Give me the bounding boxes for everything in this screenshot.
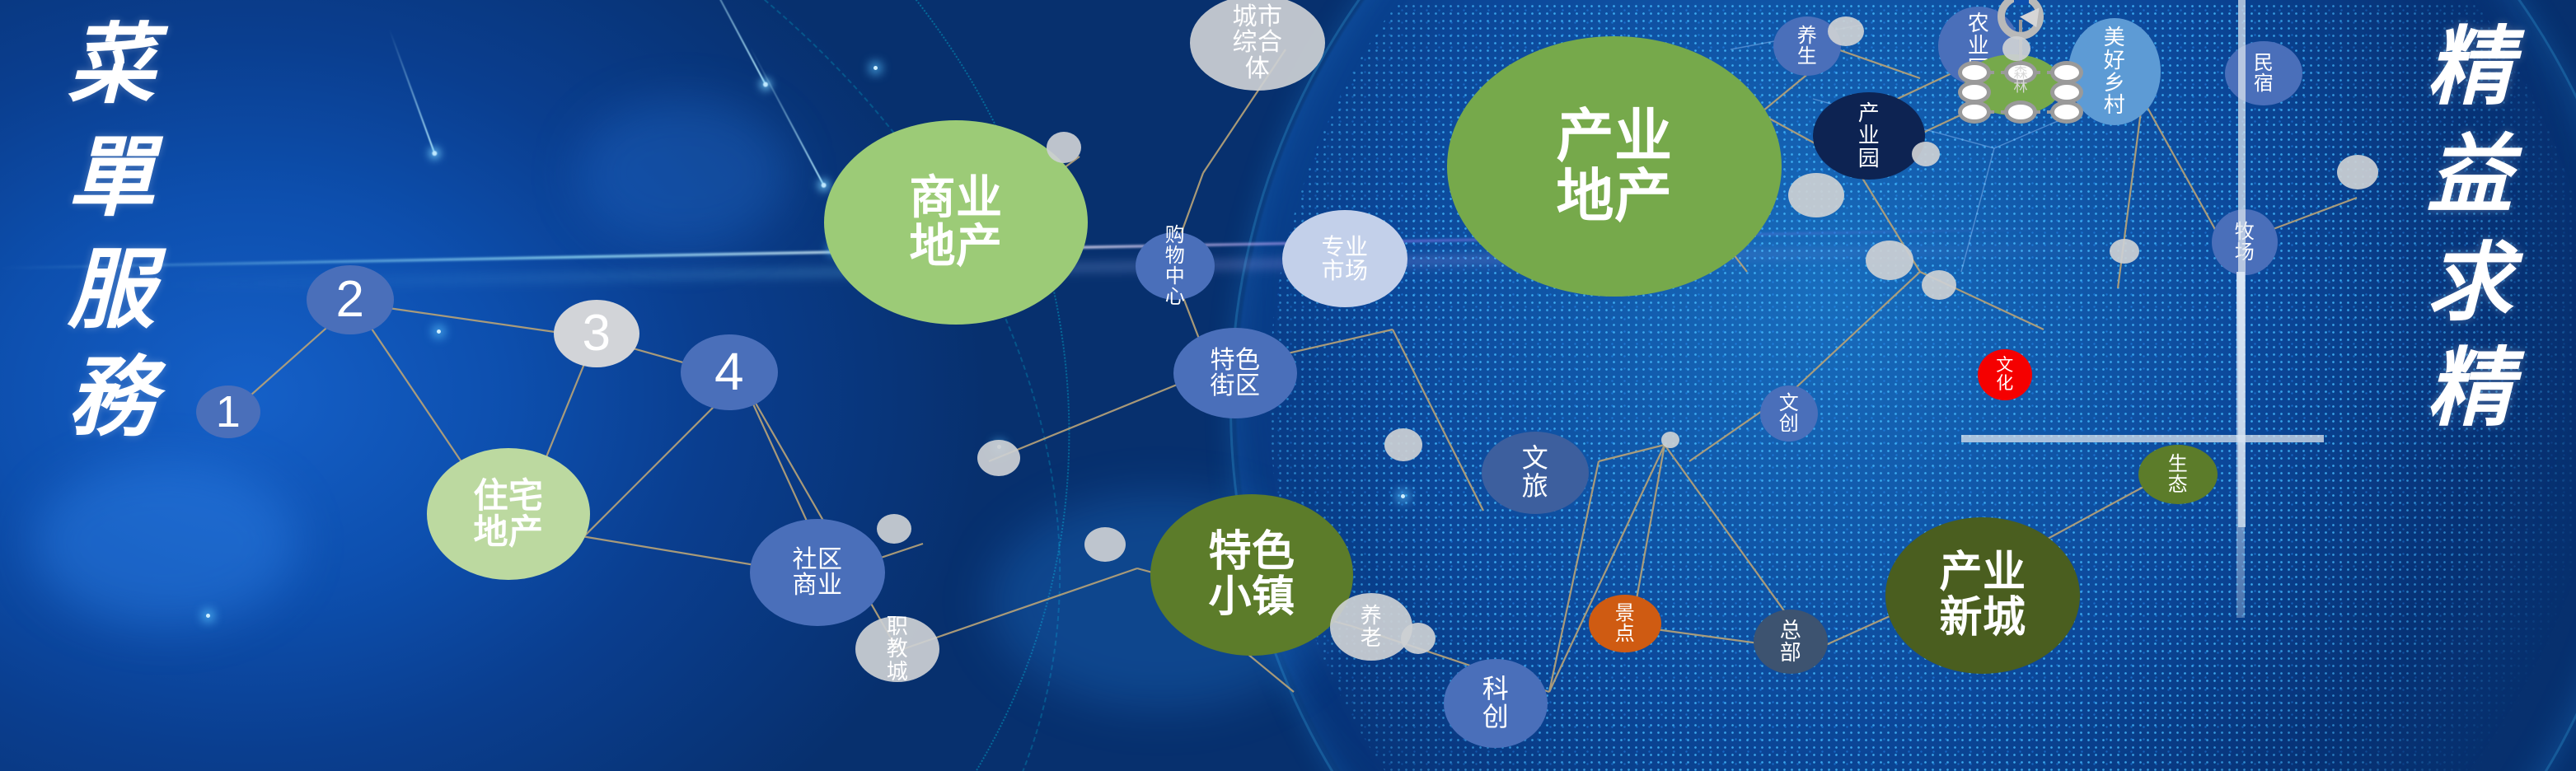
node-culture[interactable]: 文 化: [1978, 349, 2032, 400]
node-scenic-spot-label: 景 点: [1615, 603, 1636, 644]
node-homestay-label: 民 宿: [2254, 53, 2274, 94]
node-number-2-label: 2: [336, 273, 365, 326]
node-cultural-creative-label: 文 创: [1779, 393, 1800, 434]
node-industrial-park-label: 产 业 园: [1858, 102, 1880, 170]
node-community-commerce-label: 社区 商业: [793, 547, 843, 599]
node-characteristic-town[interactable]: 特色 小镇: [1150, 494, 1353, 656]
node-ecology-label: 生 态: [2168, 454, 2189, 495]
node-culture-label: 文 化: [1996, 357, 2014, 393]
node-number-3[interactable]: 3: [554, 300, 639, 367]
node-industrial-newcity[interactable]: 产业 新城: [1885, 517, 2080, 674]
right-banner-char-1: 精: [2393, 28, 2546, 110]
node-shopping-center[interactable]: 购 物 中 心: [1136, 232, 1215, 300]
node-headquarters[interactable]: 总 部: [1754, 610, 1828, 674]
right-banner-char-2: 益: [2393, 136, 2546, 217]
left-banner-char-3: 服: [33, 250, 190, 333]
dot-node-8: [1788, 173, 1844, 217]
dot-node-9: [1912, 142, 1940, 166]
node-cultural-creative[interactable]: 文 创: [1760, 385, 1818, 442]
forest-dash-2: [2034, 71, 2054, 74]
node-shopping-center-label: 购 物 中 心: [1165, 225, 1186, 308]
dot-node-15: [1661, 432, 1679, 448]
forest-dash-1: [1988, 71, 2007, 74]
node-vocational-city[interactable]: 职 教 城: [855, 616, 939, 682]
dot-node-13: [2110, 239, 2139, 264]
cross-horizontal: [1961, 435, 2324, 442]
left-banner-char-1: 菜: [33, 25, 190, 108]
right-banner: 精 益 求 精: [2393, 28, 2546, 431]
forest-node-bc: [2004, 100, 2037, 124]
node-specialty-street[interactable]: 特色 街区: [1173, 328, 1297, 418]
node-community-commerce[interactable]: 社区 商业: [750, 519, 885, 626]
dot-node-4: [1401, 623, 1436, 654]
node-number-3-label: 3: [583, 306, 611, 360]
dot-node-5: [877, 514, 911, 544]
node-number-4-label: 4: [714, 344, 744, 400]
forest-node-br: [2050, 100, 2083, 124]
dot-node-14: [2002, 36, 2030, 61]
node-number-1[interactable]: 1: [196, 385, 260, 438]
node-industrial-realestate[interactable]: 产业 地产: [1447, 36, 1782, 297]
node-industrial-park[interactable]: 产 业 园: [1813, 92, 1925, 180]
node-culture-tourism-label: 文 旅: [1522, 445, 1549, 500]
node-homestay[interactable]: 民 宿: [2225, 41, 2302, 105]
node-health-wellness-label: 养 生: [1797, 26, 1818, 67]
left-banner-char-2: 單: [33, 138, 190, 221]
dot-node-2: [977, 440, 1020, 476]
node-tech-innovation[interactable]: 科 创: [1444, 659, 1548, 748]
left-banner: 菜 單 服 務: [33, 25, 190, 441]
node-scenic-spot[interactable]: 景 点: [1589, 595, 1661, 652]
node-culture-tourism[interactable]: 文 旅: [1482, 432, 1589, 514]
refresh-icon-gap: [2014, 0, 2029, 5]
node-number-4[interactable]: 4: [681, 334, 778, 410]
node-professional-market-label: 专业 市场: [1321, 235, 1368, 283]
node-elderly-care[interactable]: 养 老: [1330, 593, 1412, 661]
node-industrial-newcity-label: 产业 新城: [1939, 550, 2026, 640]
node-residential-realestate-label: 住宅 地产: [473, 478, 543, 550]
node-specialty-street-label: 特色 街区: [1211, 348, 1261, 400]
forest-dash-3: [1988, 110, 2007, 114]
node-residential-realestate[interactable]: 住宅 地产: [427, 448, 590, 580]
dot-node-11: [1922, 270, 1956, 300]
node-urban-complex-label: 城市 综合 体: [1233, 4, 1283, 82]
dot-node-1: [1047, 132, 1081, 163]
node-number-2[interactable]: 2: [307, 265, 394, 334]
node-industrial-realestate-label: 产业 地产: [1557, 106, 1673, 227]
vertical-pole: [2236, 272, 2245, 618]
node-elderly-care-label: 养 老: [1361, 605, 1383, 650]
dot-node-12: [2337, 155, 2378, 189]
node-tech-innovation-label: 科 创: [1482, 675, 1510, 731]
right-banner-char-4: 精: [2393, 349, 2546, 431]
dot-node-3: [1384, 428, 1422, 461]
node-number-1-label: 1: [216, 389, 241, 436]
right-banner-char-3: 求: [2393, 244, 2546, 325]
forest-node-bl: [1958, 100, 1991, 124]
node-commercial-realestate-label: 商业 地产: [910, 174, 1003, 271]
node-characteristic-town-label: 特色 小镇: [1208, 530, 1295, 619]
left-banner-char-4: 務: [33, 357, 190, 441]
dot-node-6: [1084, 527, 1126, 562]
node-professional-market[interactable]: 专业 市场: [1282, 210, 1407, 307]
node-vocational-city-label: 职 教 城: [887, 615, 909, 683]
forest-label: 森 林: [2006, 66, 2035, 94]
infographic-canvas: 菜 單 服 務 精 益 求 精 1 2 3 4 住宅 地产 商业 地产 产业 地…: [0, 0, 2576, 771]
node-ecology[interactable]: 生 态: [2138, 445, 2218, 504]
forest-dash-4: [2034, 110, 2054, 114]
node-headquarters-label: 总 部: [1780, 619, 1802, 665]
dot-node-7: [1828, 16, 1864, 46]
dot-node-10: [1866, 241, 1913, 280]
